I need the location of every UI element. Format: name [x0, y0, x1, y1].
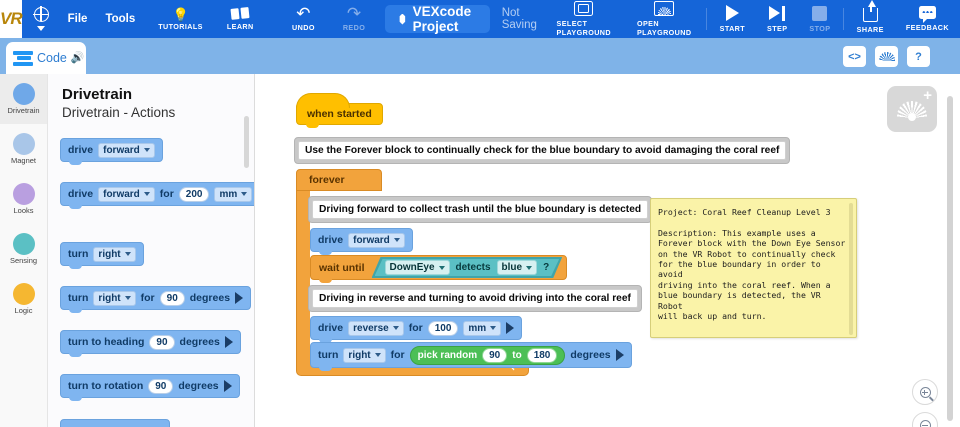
- rotation-input[interactable]: 90: [148, 379, 173, 394]
- zoom-in-button[interactable]: [912, 379, 938, 405]
- block-pick-random[interactable]: pick random 90 to 180: [410, 346, 566, 365]
- save-status: Not Saving: [502, 7, 537, 31]
- boolean-slot[interactable]: DownEye detects blue ?: [372, 257, 563, 278]
- category-looks[interactable]: Looks: [0, 174, 47, 224]
- stop-button[interactable]: STOP: [798, 0, 841, 38]
- expand-arrow-icon[interactable]: [225, 336, 233, 348]
- expand-arrow-icon[interactable]: [224, 380, 232, 392]
- palette-turn-to-rotation-block[interactable]: turn to rotation 90 degrees: [60, 374, 240, 398]
- direction-dropdown[interactable]: forward: [348, 233, 405, 248]
- open-playground-button[interactable]: OPEN PLAYGROUND: [624, 0, 704, 38]
- menu-file[interactable]: File: [59, 0, 97, 38]
- monitor-button[interactable]: [875, 46, 898, 67]
- logic-color-icon: [13, 283, 35, 305]
- select-playground-icon: [574, 1, 593, 16]
- chevron-down-icon: [37, 26, 45, 31]
- start-button[interactable]: START: [709, 0, 756, 38]
- stop-icon: [812, 6, 827, 21]
- code-workspace[interactable]: when started Use the Forever block to co…: [255, 74, 960, 427]
- note-text: Project: Coral Reef Cleanup Level 3 Desc…: [658, 207, 849, 338]
- expand-arrow-icon[interactable]: [235, 292, 243, 304]
- block-palette[interactable]: Drivetrain Drivetrain - Actions drive fo…: [48, 74, 255, 427]
- globe-icon: [34, 7, 49, 22]
- palette-title: Drivetrain: [62, 86, 254, 103]
- looks-color-icon: [13, 183, 35, 205]
- palette-turn-for-block[interactable]: turn right for 90 degrees: [60, 286, 251, 310]
- category-sensing[interactable]: Sensing: [0, 224, 47, 274]
- heading-input[interactable]: 90: [149, 335, 174, 350]
- feedback-button[interactable]: FEEDBACK: [895, 0, 960, 38]
- palette-drive-block[interactable]: drive forward: [60, 138, 163, 162]
- category-drivetrain[interactable]: Drivetrain: [0, 74, 47, 124]
- zoom-in-icon: [920, 387, 931, 398]
- random-to-input[interactable]: 180: [527, 348, 558, 363]
- block-when-started[interactable]: when started: [296, 103, 383, 125]
- feedback-icon: [919, 6, 936, 19]
- add-monitor-button[interactable]: +: [887, 86, 937, 132]
- menu-tutorials[interactable]: 💡 TUTORIALS: [144, 0, 215, 38]
- turn-direction-dropdown[interactable]: right: [343, 348, 385, 363]
- view-code-button[interactable]: <>: [843, 46, 866, 67]
- category-magnet[interactable]: Magnet: [0, 124, 47, 174]
- code-brackets-icon: <>: [848, 51, 861, 63]
- drivetrain-color-icon: [13, 83, 35, 105]
- expand-arrow-icon[interactable]: [506, 322, 514, 334]
- share-button[interactable]: SHARE: [846, 0, 895, 38]
- comment-reverse-turn[interactable]: Driving in reverse and turning to avoid …: [308, 285, 642, 312]
- undo-arrow-icon: ↶: [296, 6, 310, 22]
- undo-button[interactable]: ↶ UNDO: [278, 0, 329, 38]
- sensor-dropdown[interactable]: DownEye: [385, 260, 450, 275]
- direction-dropdown[interactable]: forward: [98, 187, 155, 202]
- turn-direction-dropdown[interactable]: right: [93, 247, 135, 262]
- sensor-condition[interactable]: DownEye detects blue ?: [375, 259, 560, 276]
- plus-icon: +: [923, 89, 932, 102]
- step-icon: [769, 6, 785, 21]
- palette-drive-for-block[interactable]: drive forward for 200 mm: [60, 182, 255, 206]
- step-button[interactable]: STEP: [756, 0, 798, 38]
- color-dropdown[interactable]: blue: [497, 260, 538, 275]
- block-turn-random[interactable]: turn right for pick random 90 to 180 deg…: [310, 342, 632, 368]
- share-icon: [863, 8, 878, 22]
- speaker-icon[interactable]: 🔊: [71, 53, 85, 64]
- top-menu-bar: VR File Tools 💡 TUTORIALS LEARN ↶ UNDO ↷…: [0, 0, 960, 38]
- gauge-icon: [879, 52, 895, 61]
- unit-dropdown[interactable]: mm: [463, 321, 501, 336]
- direction-dropdown[interactable]: reverse: [348, 321, 404, 336]
- expand-arrow-icon[interactable]: [616, 349, 624, 361]
- category-rail: Drivetrain Magnet Looks Sensing Logic: [0, 74, 48, 427]
- turn-direction-dropdown[interactable]: right: [93, 291, 135, 306]
- palette-header: Drivetrain Drivetrain - Actions: [48, 74, 254, 120]
- project-icon: [399, 14, 405, 25]
- comment-forever-usage[interactable]: Use the Forever block to continually che…: [294, 137, 790, 164]
- category-logic[interactable]: Logic: [0, 274, 47, 324]
- distance-input[interactable]: 100: [428, 321, 459, 336]
- palette-scrollbar[interactable]: [244, 116, 249, 168]
- degrees-input[interactable]: 90: [160, 291, 185, 306]
- menu-tools[interactable]: Tools: [96, 0, 144, 38]
- books-icon: [231, 7, 250, 20]
- random-from-input[interactable]: 90: [482, 348, 507, 363]
- help-button[interactable]: ?: [907, 46, 930, 67]
- distance-input[interactable]: 200: [179, 187, 210, 202]
- magnet-color-icon: [13, 133, 35, 155]
- palette-subtitle: Drivetrain - Actions: [62, 105, 254, 120]
- project-note[interactable]: Project: Coral Reef Cleanup Level 3 Desc…: [650, 198, 857, 338]
- block-forever[interactable]: forever: [296, 169, 596, 191]
- code-tab-bar: Code 🔊 <> ?: [0, 38, 960, 74]
- block-drive-reverse[interactable]: drive reverse for 100 mm: [310, 316, 522, 340]
- palette-turn-to-heading-block[interactable]: turn to heading 90 degrees: [60, 330, 241, 354]
- palette-partial-block[interactable]: [60, 419, 170, 427]
- blocks-icon: [13, 51, 33, 66]
- block-drive-forward[interactable]: drive forward: [310, 228, 413, 252]
- zoom-out-icon: [920, 420, 931, 427]
- block-wait-until[interactable]: wait until DownEye detects blue ?: [310, 255, 567, 280]
- lightbulb-icon: 💡: [172, 8, 188, 21]
- project-name-button[interactable]: VEXcode Project: [385, 5, 490, 33]
- menu-learn[interactable]: LEARN: [215, 0, 266, 38]
- language-selector[interactable]: [22, 0, 59, 38]
- note-scrollbar[interactable]: [849, 203, 853, 335]
- palette-turn-block[interactable]: turn right: [60, 242, 144, 266]
- play-icon: [726, 5, 739, 21]
- sensing-color-icon: [13, 233, 35, 255]
- redo-button[interactable]: ↷ REDO: [329, 0, 379, 38]
- unit-dropdown[interactable]: mm: [214, 187, 252, 202]
- redo-arrow-icon: ↷: [347, 6, 361, 22]
- open-playground-icon: [654, 1, 674, 16]
- question-mark-icon: ?: [915, 51, 922, 63]
- vr-logo: VR: [0, 0, 22, 38]
- select-playground-button[interactable]: SELECT PLAYGROUND: [544, 0, 624, 38]
- direction-dropdown[interactable]: forward: [98, 143, 155, 158]
- comment-drive-forward[interactable]: Driving forward to collect trash until t…: [308, 196, 652, 223]
- workspace-scrollbar[interactable]: [947, 96, 953, 421]
- tab-code[interactable]: Code 🔊: [6, 42, 86, 74]
